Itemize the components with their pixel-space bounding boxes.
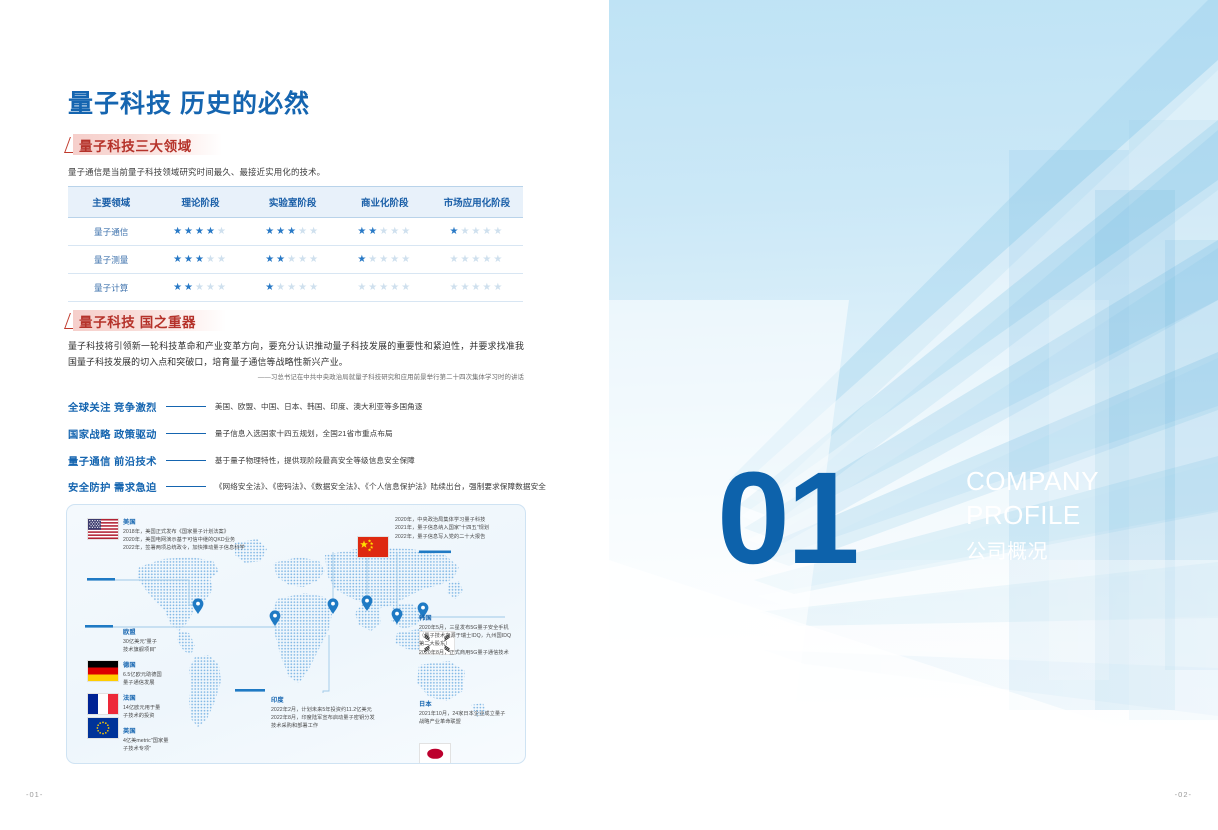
annotation-japan: 日本2021年10月，24家日本企业成立量子战略产业革命联盟 [419, 699, 505, 726]
table-col-header-4: 市场应用化阶段 [431, 187, 523, 218]
de-flag-icon [87, 660, 119, 682]
star-empty-icon: ★ [298, 282, 309, 293]
table-cell-rating: ★★★★★ [339, 246, 431, 274]
star-empty-icon: ★ [401, 282, 412, 293]
left-page-number: -01- [26, 790, 43, 799]
section-header-national: 量子科技 国之重器 [64, 310, 226, 331]
star-rating: ★★★★★ [449, 254, 504, 265]
table-cell-rating: ★★★★★ [339, 218, 431, 246]
star-rating: ★★★★★ [173, 226, 228, 237]
star-empty-icon: ★ [401, 226, 412, 237]
star-empty-icon: ★ [357, 282, 368, 293]
star-empty-icon: ★ [217, 254, 228, 265]
annotation-line: 战略产业革命联盟 [419, 718, 505, 726]
table-row: 量子计算★★★★★★★★★★★★★★★★★★★★ [68, 274, 523, 302]
annotation-line: 量子通信发展 [123, 679, 185, 687]
star-rating: ★★★★★ [173, 282, 228, 293]
table-cell-rating: ★★★★★ [431, 274, 523, 302]
star-empty-icon: ★ [471, 226, 482, 237]
key-point-title: 量子通信 前沿技术 [68, 453, 157, 468]
star-rating: ★★★★★ [449, 226, 504, 237]
annotation-usa: 美国2018年，美国正式发布《国家量子计划法案》2020年，美国电网演示基于可信… [123, 517, 245, 553]
annotation-line: 子技术专项" [123, 745, 185, 753]
key-point-title: 安全防护 需求急迫 [68, 479, 157, 494]
key-point-desc: 基于量子物理特性，提供现阶段最高安全等级信息安全保障 [215, 455, 415, 466]
star-empty-icon: ★ [460, 226, 471, 237]
star-empty-icon: ★ [379, 282, 390, 293]
star-filled-icon: ★ [173, 226, 184, 237]
star-filled-icon: ★ [206, 226, 217, 237]
star-filled-icon: ★ [357, 254, 368, 265]
table-cell-rating: ★★★★★ [431, 218, 523, 246]
annotation-country-name: 韩国 [419, 613, 511, 622]
star-rating: ★★★★★ [357, 226, 412, 237]
star-filled-icon: ★ [265, 254, 276, 265]
star-empty-icon: ★ [471, 254, 482, 265]
star-rating: ★★★★★ [357, 282, 412, 293]
star-rating: ★★★★★ [265, 254, 320, 265]
quote-source: ——习总书记在中共中央政治局就量子科技研究和应用前景举行第二十四次集体学习时的讲… [68, 372, 524, 381]
right-page: 01 COMPANY PROFILE 公司概况 -02- [609, 0, 1218, 830]
table-col-header-3: 商业化阶段 [339, 187, 431, 218]
section-title-en-line2: PROFILE [966, 500, 1081, 531]
spread-page: 量子科技 历史的必然 量子科技三大领域 量子通信是当前量子科技领域研究时间最久、… [0, 0, 1218, 830]
table-cell-domain: 量子测量 [68, 246, 154, 274]
chevron-left-icon [64, 310, 73, 331]
annotation-line: 2022年2月，计划未来5年投资约11.2亿美元 [271, 706, 375, 714]
left-page: 量子科技 历史的必然 量子科技三大领域 量子通信是当前量子科技领域研究时间最久、… [0, 0, 609, 830]
annotation-country-name: 欧盟 [123, 627, 183, 636]
annotation-line: 4亿美metric"国家量 [123, 737, 185, 745]
key-point-title: 全球关注 竞争激烈 [68, 399, 157, 414]
annotation-country-name: 美国 [123, 517, 245, 526]
star-rating: ★★★★★ [173, 254, 228, 265]
annotation-line: 2021年10月，24家日本企业成立量子 [419, 710, 505, 718]
star-empty-icon: ★ [449, 254, 460, 265]
annotation-line: 子技术的投资 [123, 712, 185, 720]
star-empty-icon: ★ [217, 226, 228, 237]
domains-table: 主要领域理论阶段实验室阶段商业化阶段市场应用化阶段 量子通信★★★★★★★★★★… [68, 186, 523, 302]
page-title-text: 量子科技 历史的必然 [68, 90, 310, 118]
section-header-national-label: 量子科技 国之重器 [79, 311, 196, 331]
star-empty-icon: ★ [401, 254, 412, 265]
star-empty-icon: ★ [195, 282, 206, 293]
key-point-desc: 量子信息入选国家十四五规划，全国21省市重点布局 [215, 428, 393, 439]
annotation-line: 2020年，美国电网演示基于可信中继的QKD业务 [123, 536, 245, 544]
key-point-0: 全球关注 竞争激烈美国、欧盟、中国、日本、韩国、印度、澳大利亚等多国角逐 [68, 399, 538, 414]
star-rating: ★★★★★ [265, 282, 320, 293]
star-empty-icon: ★ [206, 282, 217, 293]
annotation-line: 2022年，量子信息写入党的二十大报告 [395, 533, 489, 541]
right-page-number: -02- [1175, 790, 1192, 799]
star-filled-icon: ★ [449, 226, 460, 237]
star-empty-icon: ★ [390, 282, 401, 293]
star-rating: ★★★★★ [449, 282, 504, 293]
key-point-divider [166, 433, 206, 434]
key-point-1: 国家战略 政策驱动量子信息入选国家十四五规划，全国21省市重点布局 [68, 426, 538, 441]
star-filled-icon: ★ [184, 226, 195, 237]
star-empty-icon: ★ [379, 254, 390, 265]
star-empty-icon: ★ [449, 282, 460, 293]
annotation-china: 2020年，中央政治局集体学习量子科技2021年，量子信息纳入国家"十四五"规划… [395, 516, 489, 541]
annotation-country-name: 德国 [123, 660, 185, 669]
fr-flag-icon [87, 693, 119, 715]
star-empty-icon: ★ [482, 226, 493, 237]
star-rating: ★★★★★ [357, 254, 412, 265]
table-cell-rating: ★★★★★ [154, 218, 246, 246]
annotation-line: 6.5亿欧元助德国 [123, 671, 185, 679]
star-filled-icon: ★ [184, 254, 195, 265]
table-row: 量子测量★★★★★★★★★★★★★★★★★★★★ [68, 246, 523, 274]
star-empty-icon: ★ [482, 282, 493, 293]
section-header-ribbon: 量子科技 国之重器 [73, 310, 226, 331]
star-filled-icon: ★ [195, 254, 206, 265]
star-empty-icon: ★ [482, 254, 493, 265]
annotation-line: 2020年5月，三星发布5G量子安全手机 [419, 624, 511, 632]
table-cell-rating: ★★★★★ [247, 246, 339, 274]
star-empty-icon: ★ [309, 226, 320, 237]
annotation-country-name: 印度 [271, 695, 375, 704]
section1-lead-text: 量子通信是当前量子科技领域研究时间最久、最接近实用化的技术。 [68, 166, 528, 179]
table-cell-rating: ★★★★★ [247, 274, 339, 302]
star-empty-icon: ★ [298, 254, 309, 265]
star-empty-icon: ★ [287, 282, 298, 293]
table-row: 量子通信★★★★★★★★★★★★★★★★★★★★ [68, 218, 523, 246]
star-empty-icon: ★ [460, 254, 471, 265]
chevron-left-icon [64, 134, 73, 155]
eu-flag-icon [87, 717, 119, 739]
annotation-line: 第二大股东） [419, 640, 511, 648]
ray-background-graphic [609, 0, 1218, 830]
star-empty-icon: ★ [390, 226, 401, 237]
jp-flag-icon [419, 743, 451, 764]
annotation-korea: 韩国2020年5月，三星发布5G量子安全手机（量子技术来源于瑞士IDQ，九州国I… [419, 613, 511, 657]
star-empty-icon: ★ [287, 254, 298, 265]
star-filled-icon: ★ [173, 282, 184, 293]
star-filled-icon: ★ [265, 226, 276, 237]
table-col-header-0: 主要领域 [68, 187, 154, 218]
star-empty-icon: ★ [493, 226, 504, 237]
annotation-line: 2022年8月，印度陆军宣布启动量子密钥分发 [271, 714, 375, 722]
key-point-divider [166, 406, 206, 407]
star-empty-icon: ★ [276, 282, 287, 293]
table-body: 量子通信★★★★★★★★★★★★★★★★★★★★量子测量★★★★★★★★★★★★… [68, 218, 523, 302]
star-empty-icon: ★ [298, 226, 309, 237]
star-filled-icon: ★ [287, 226, 298, 237]
annotation-country-name: 日本 [419, 699, 505, 708]
star-empty-icon: ★ [493, 282, 504, 293]
star-filled-icon: ★ [195, 226, 206, 237]
annotation-country-name: 英国 [123, 726, 185, 735]
cn-flag-icon [357, 536, 389, 558]
annotation-country-name: 法国 [123, 693, 185, 702]
section-header-ribbon: 量子科技三大领域 [73, 134, 222, 155]
star-rating: ★★★★★ [265, 226, 320, 237]
table-col-header-1: 理论阶段 [154, 187, 246, 218]
annotation-india: 印度2022年2月，计划未来5年投资约11.2亿美元2022年8月，印度陆军宣布… [271, 695, 375, 731]
annotation-line: 2018年，美国正式发布《国家量子计划法案》 [123, 528, 245, 536]
table-cell-domain: 量子通信 [68, 218, 154, 246]
quote-body: 量子科技将引领新一轮科技革命和产业变革方向，要充分认识推动量子科技发展的重要性和… [68, 338, 524, 370]
table-cell-rating: ★★★★★ [154, 246, 246, 274]
star-empty-icon: ★ [460, 282, 471, 293]
star-filled-icon: ★ [276, 254, 287, 265]
section-title-en-line1: COMPANY [966, 466, 1099, 497]
world-map-card: 美国2018年，美国正式发布《国家量子计划法案》2020年，美国电网演示基于可信… [66, 504, 526, 764]
star-empty-icon: ★ [368, 254, 379, 265]
annotation-line: （量子技术来源于瑞士IDQ，九州国IDQ [419, 632, 511, 640]
key-point-divider [166, 460, 206, 461]
table-cell-rating: ★★★★★ [431, 246, 523, 274]
table-cell-rating: ★★★★★ [247, 218, 339, 246]
star-empty-icon: ★ [309, 254, 320, 265]
key-point-desc: 美国、欧盟、中国、日本、韩国、印度、澳大利亚等多国角逐 [215, 401, 423, 412]
annotation-germany: 德国6.5亿欧元助德国量子通信发展 [123, 660, 185, 687]
star-empty-icon: ★ [309, 282, 320, 293]
annotation-line: 2021年，量子信息纳入国家"十四五"规划 [395, 524, 489, 532]
star-empty-icon: ★ [471, 282, 482, 293]
annotation-line: 2020年8月，正式商用5G量子通信技术 [419, 649, 511, 657]
star-filled-icon: ★ [276, 226, 287, 237]
star-empty-icon: ★ [217, 282, 228, 293]
annotation-france: 法国14亿欧元用于量子技术的投资 [123, 693, 185, 720]
key-point-desc: 《网络安全法》、《密码法》、《数据安全法》、《个人信息保护法》陆续出台，强制要求… [215, 481, 546, 492]
star-filled-icon: ★ [368, 226, 379, 237]
key-point-title: 国家战略 政策驱动 [68, 426, 157, 441]
annotation-line: 2020年，中央政治局集体学习量子科技 [395, 516, 489, 524]
table-cell-rating: ★★★★★ [154, 274, 246, 302]
section-title-cn: 公司概况 [966, 535, 1048, 564]
annotation-line: 30亿美元"量子 [123, 638, 183, 646]
annotation-uk: 英国4亿美metric"国家量子技术专项" [123, 726, 185, 753]
star-empty-icon: ★ [206, 254, 217, 265]
section-header-domains: 量子科技三大领域 [64, 134, 222, 155]
star-filled-icon: ★ [184, 282, 195, 293]
star-empty-icon: ★ [390, 254, 401, 265]
table-cell-domain: 量子计算 [68, 274, 154, 302]
page-title: 量子科技 历史的必然 [68, 84, 310, 120]
table-col-header-2: 实验室阶段 [247, 187, 339, 218]
star-empty-icon: ★ [493, 254, 504, 265]
star-filled-icon: ★ [173, 254, 184, 265]
section-number: 01 [717, 452, 857, 583]
annotation-line: 技术采购和部署工作 [271, 722, 375, 730]
star-empty-icon: ★ [379, 226, 390, 237]
annotation-line: 14亿欧元用于量 [123, 704, 185, 712]
key-point-2: 量子通信 前沿技术基于量子物理特性，提供现阶段最高安全等级信息安全保障 [68, 453, 538, 468]
table-header-row: 主要领域理论阶段实验室阶段商业化阶段市场应用化阶段 [68, 187, 523, 218]
star-filled-icon: ★ [265, 282, 276, 293]
star-empty-icon: ★ [368, 282, 379, 293]
star-filled-icon: ★ [357, 226, 368, 237]
key-point-3: 安全防护 需求急迫《网络安全法》、《密码法》、《数据安全法》、《个人信息保护法》… [68, 479, 538, 494]
key-point-divider [166, 486, 206, 487]
annotation-line: 技术旗舰项目" [123, 646, 183, 654]
annotation-line: 2022年，签署两项总统政令，加快推动量子信息科学 [123, 544, 245, 552]
annotation-eu: 欧盟30亿美元"量子技术旗舰项目" [123, 627, 183, 654]
table-cell-rating: ★★★★★ [339, 274, 431, 302]
section-header-domains-label: 量子科技三大领域 [79, 135, 192, 155]
us-flag-icon [87, 518, 119, 540]
